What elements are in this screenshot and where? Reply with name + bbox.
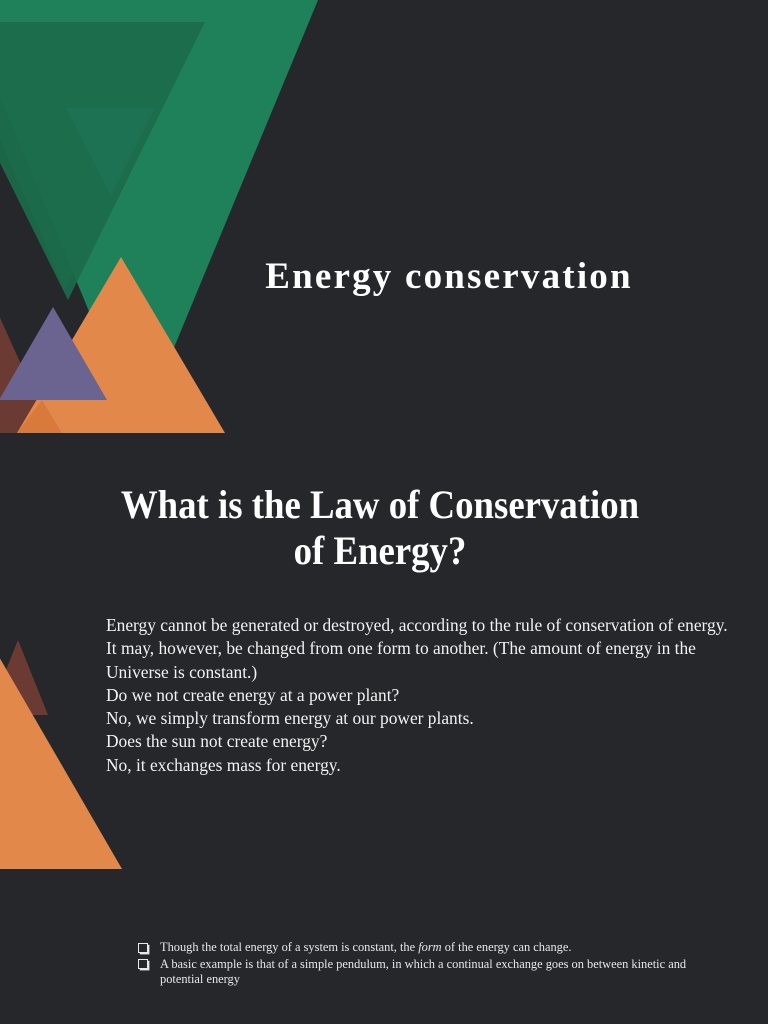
title-block: Energy conservation bbox=[0, 232, 768, 322]
body-line-4: No, it exchanges mass for energy. bbox=[106, 754, 730, 777]
list-item-text-emphasis: form bbox=[418, 940, 441, 954]
list-item: A basic example is that of a simple pend… bbox=[138, 957, 698, 987]
section-heading-line-2: of Energy? bbox=[67, 528, 693, 574]
orange-triangle-lower bbox=[0, 655, 122, 869]
list-item-text-before: A basic example is that of a simple pend… bbox=[160, 957, 686, 986]
hollow-square-bullet-icon bbox=[138, 959, 148, 969]
slide-canvas: Energy conservation What is the Law of C… bbox=[0, 0, 768, 1024]
body-copy-block: Energy cannot be generated or destroyed,… bbox=[106, 614, 730, 777]
body-line-3: Does the sun not create energy? bbox=[106, 730, 730, 753]
section-heading-line-1: What is the Law of Conservation bbox=[67, 482, 693, 528]
green-inverted-triangle-small bbox=[66, 108, 155, 196]
body-line-1: Do we not create energy at a power plant… bbox=[106, 684, 730, 707]
bullet-list: Though the total energy of a system is c… bbox=[138, 940, 698, 988]
page-title: Energy conservation bbox=[265, 257, 633, 298]
body-paragraph: Energy cannot be generated or destroyed,… bbox=[106, 614, 730, 684]
green-inverted-triangle-large bbox=[0, 0, 318, 432]
section-heading-block: What is the Law of Conservation of Energ… bbox=[40, 482, 720, 575]
list-item: Though the total energy of a system is c… bbox=[138, 940, 698, 955]
list-item-text: A basic example is that of a simple pend… bbox=[160, 957, 686, 986]
list-item-text-after: of the energy can change. bbox=[442, 940, 572, 954]
list-item-text-before: Though the total energy of a system is c… bbox=[160, 940, 418, 954]
list-item-text: Though the total energy of a system is c… bbox=[160, 940, 571, 954]
maroon-triangle-lower bbox=[0, 640, 48, 715]
body-line-2: No, we simply transform energy at our po… bbox=[106, 707, 730, 730]
orange-triangle-base-shadow bbox=[17, 400, 62, 433]
hollow-square-bullet-icon bbox=[138, 943, 148, 953]
